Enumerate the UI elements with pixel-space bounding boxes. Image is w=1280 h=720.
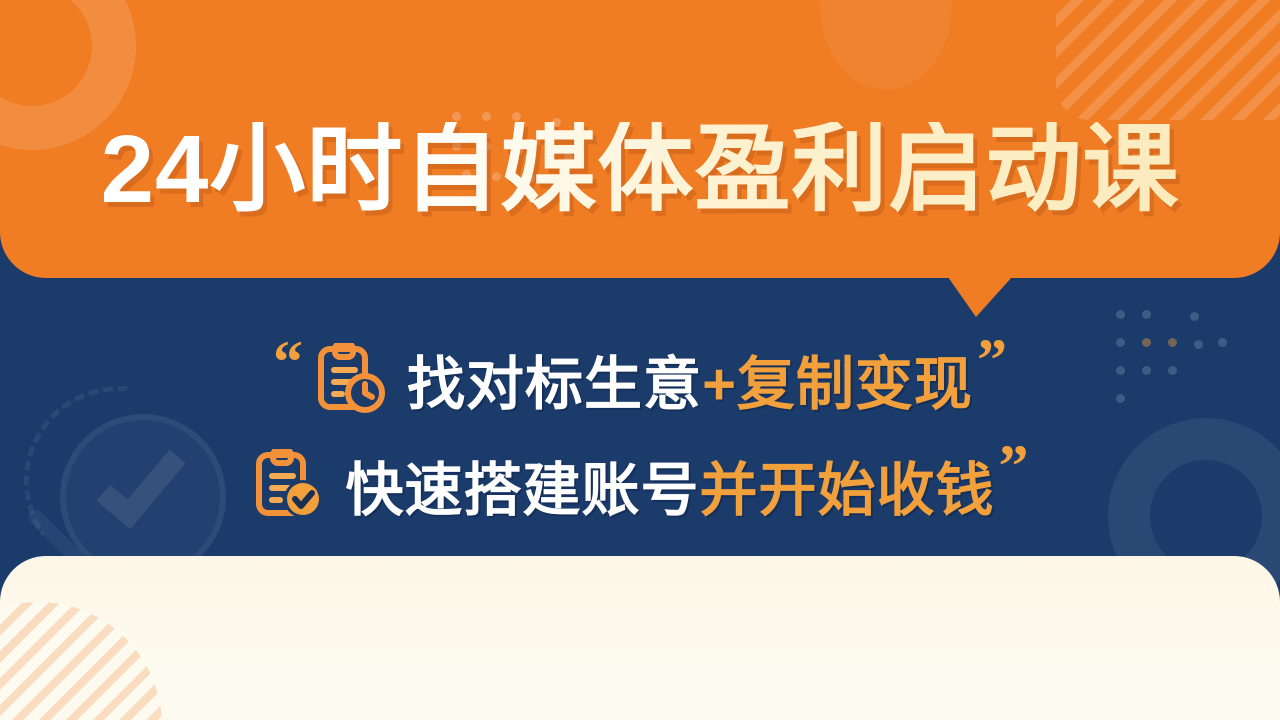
promo-poster: 24小时自媒体盈利启动课 “ 找对标生意+复制变现 bbox=[0, 0, 1280, 720]
page-title: 24小时自媒体盈利启动课 bbox=[0, 122, 1280, 218]
subtitle-line-1-white: 找对标生意 bbox=[407, 352, 702, 417]
clipboard-check-icon bbox=[251, 449, 323, 521]
subtitle-block: “ 找对标生意+复制变现 ” bbox=[0, 326, 1280, 538]
decor-blob-orange-icon bbox=[820, 0, 952, 90]
subtitle-line-2: 快速搭建账号并开始收钱 ” bbox=[0, 432, 1280, 538]
card-tint-overlay bbox=[0, 556, 1280, 720]
subtitle-line-2-text: 快速搭建账号并开始收钱 bbox=[345, 443, 994, 527]
subtitle-line-1-highlight: +复制变现 bbox=[702, 352, 973, 417]
content-card bbox=[0, 556, 1280, 720]
subtitle-line-1: “ 找对标生意+复制变现 ” bbox=[0, 326, 1280, 432]
decor-diagonal-stripes-icon bbox=[1056, 0, 1280, 120]
close-quote-mark: ” bbox=[977, 330, 1007, 390]
subtitle-line-1-text: 找对标生意+复制变现 bbox=[407, 337, 973, 421]
subtitle-line-2-white: 快速搭建账号 bbox=[345, 458, 699, 523]
speech-bubble-tail-icon bbox=[948, 277, 1012, 317]
open-quote-mark: “ bbox=[273, 332, 303, 392]
clipboard-clock-icon bbox=[313, 343, 385, 415]
subtitle-line-2-highlight: 并开始收钱 bbox=[700, 458, 995, 523]
close-quote-mark-2: ” bbox=[999, 436, 1029, 496]
